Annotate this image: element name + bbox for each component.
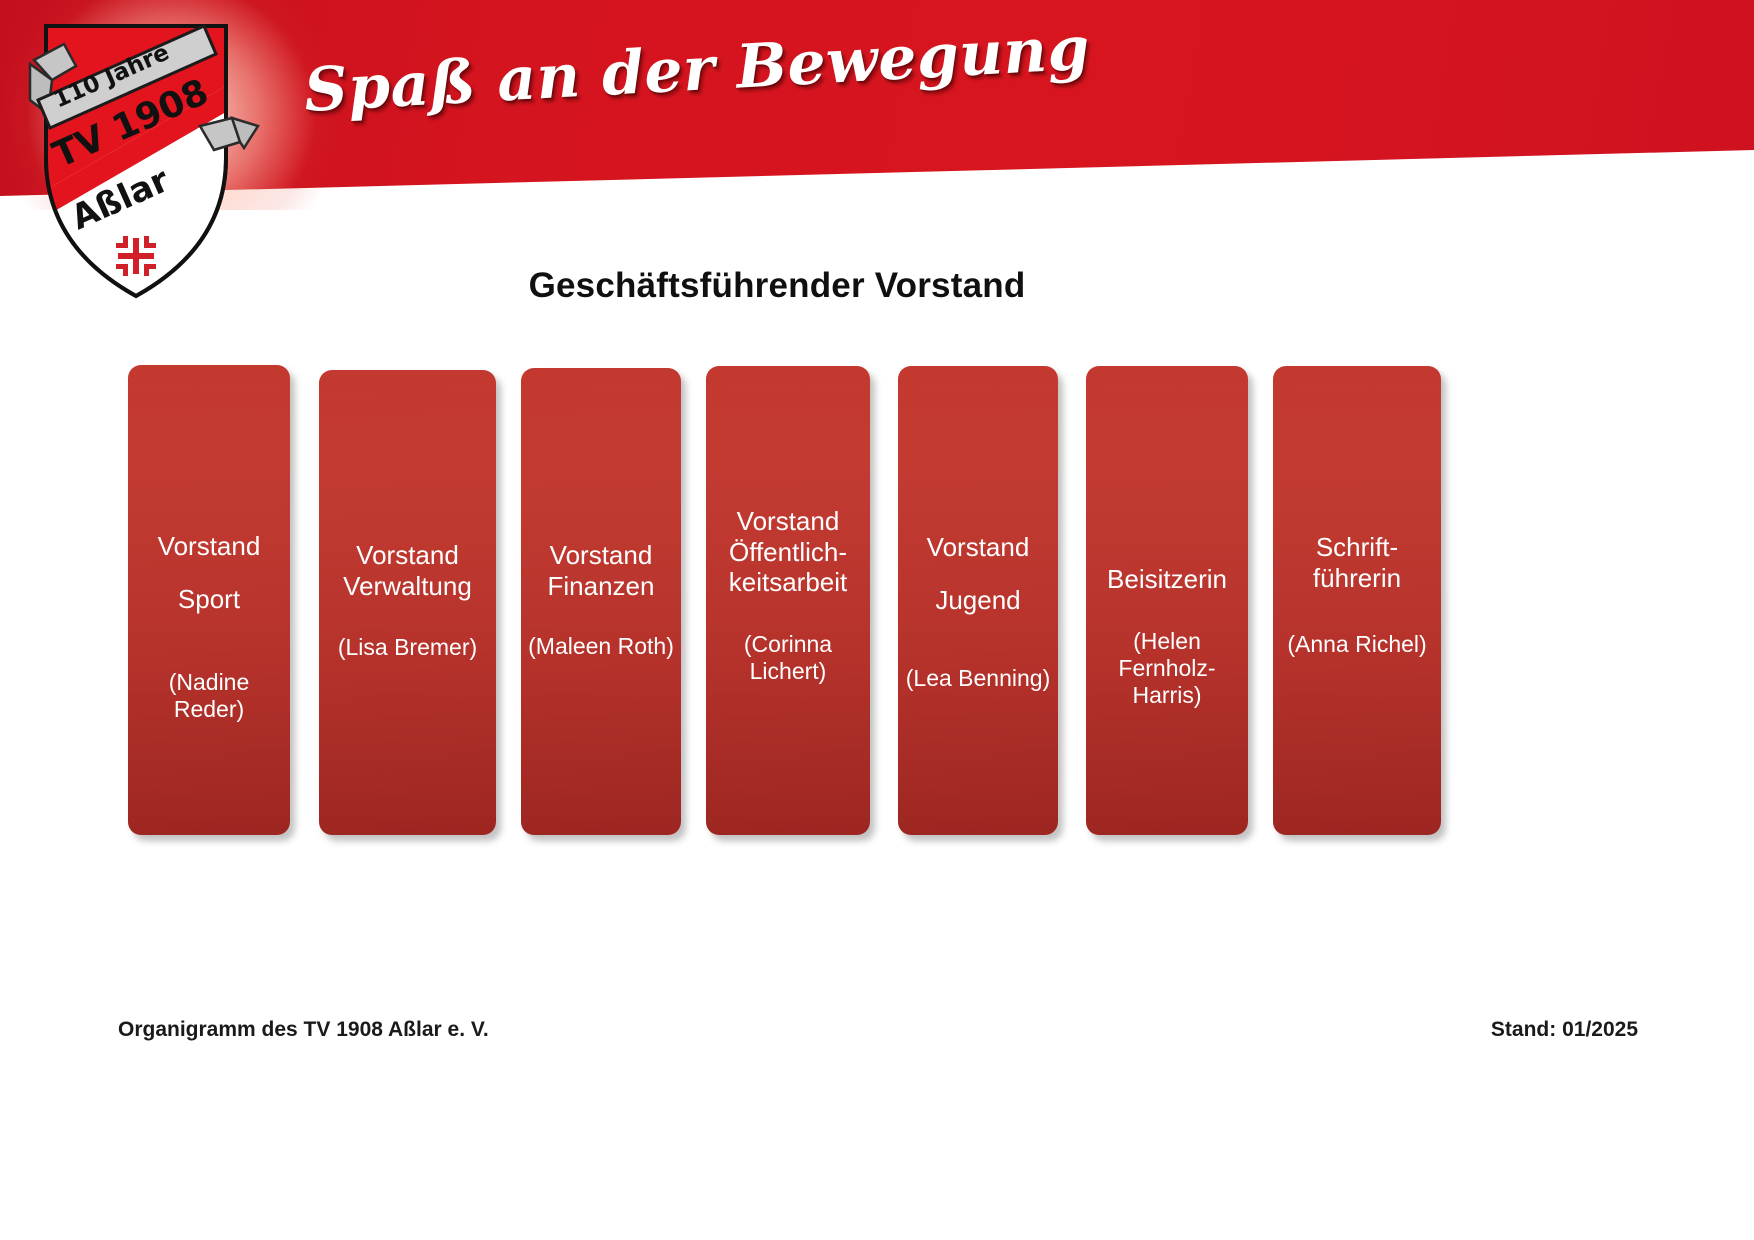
board-card-person: (Corinna Lichert) (706, 631, 870, 685)
board-card-role: Vorstand Öffentlich- keitsarbeit (706, 506, 870, 598)
board-card-role: Vorstand Verwaltung (319, 540, 496, 601)
board-card[interactable]: Vorstand Sport (Nadine Reder) (128, 365, 290, 835)
board-card-role: Vorstand Sport (128, 520, 290, 627)
board-card[interactable]: Vorstand Finanzen (Maleen Roth) (521, 368, 681, 835)
board-card-role: Vorstand Jugend (898, 521, 1058, 628)
board-card[interactable]: Vorstand Verwaltung (Lisa Bremer) (319, 370, 496, 835)
board-card-role: Schrift- führerin (1273, 532, 1441, 593)
board-card-role: Beisitzerin (1086, 564, 1248, 595)
board-card-person: (Anna Richel) (1273, 631, 1441, 658)
footer-source-label: Organigramm des TV 1908 Aßlar e. V. (118, 1018, 489, 1042)
board-card-person: (Maleen Roth) (521, 633, 681, 660)
board-card[interactable]: Schrift- führerin (Anna Richel) (1273, 366, 1441, 835)
board-card[interactable]: Vorstand Jugend (Lea Benning) (898, 366, 1058, 835)
board-card-row: Vorstand Sport (Nadine Reder) Vorstand V… (0, 0, 1754, 1240)
footer-date-label: Stand: 01/2025 (1491, 1018, 1638, 1042)
board-card-role: Vorstand Finanzen (521, 540, 681, 601)
board-card-person: (Nadine Reder) (128, 669, 290, 723)
board-card-person: (Lea Benning) (898, 665, 1058, 692)
board-card[interactable]: Vorstand Öffentlich- keitsarbeit (Corinn… (706, 366, 870, 835)
board-card[interactable]: Beisitzerin (Helen Fernholz- Harris) (1086, 366, 1248, 835)
board-card-person: (Helen Fernholz- Harris) (1086, 628, 1248, 709)
board-card-person: (Lisa Bremer) (319, 634, 496, 661)
